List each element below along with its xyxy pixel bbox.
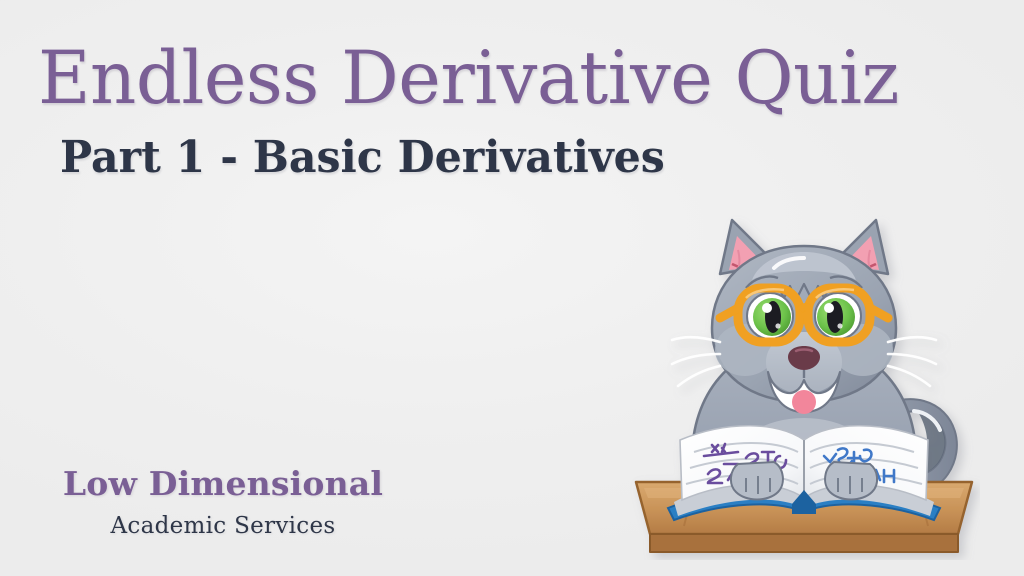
open-book xyxy=(668,426,940,520)
page-title: Endless Derivative Quiz xyxy=(38,42,925,116)
page-subtitle: Part 1 - Basic Derivatives xyxy=(60,134,912,182)
title-block: Endless Derivative Quiz Part 1 - Basic D… xyxy=(38,42,938,183)
title-slide: Endless Derivative Quiz Part 1 - Basic D… xyxy=(0,0,1024,576)
cat-eye-right xyxy=(815,293,861,339)
cat-reading-book-at-desk-illustration xyxy=(628,212,980,560)
cat-head xyxy=(672,220,936,414)
cat-eye-left xyxy=(747,293,793,339)
cat-illustration-group xyxy=(636,220,972,552)
brand-block: Low Dimensional Academic Services xyxy=(58,464,388,539)
brand-tagline: Academic Services xyxy=(58,513,388,539)
brand-name: Low Dimensional xyxy=(58,464,388,503)
cat-tongue xyxy=(792,390,816,414)
